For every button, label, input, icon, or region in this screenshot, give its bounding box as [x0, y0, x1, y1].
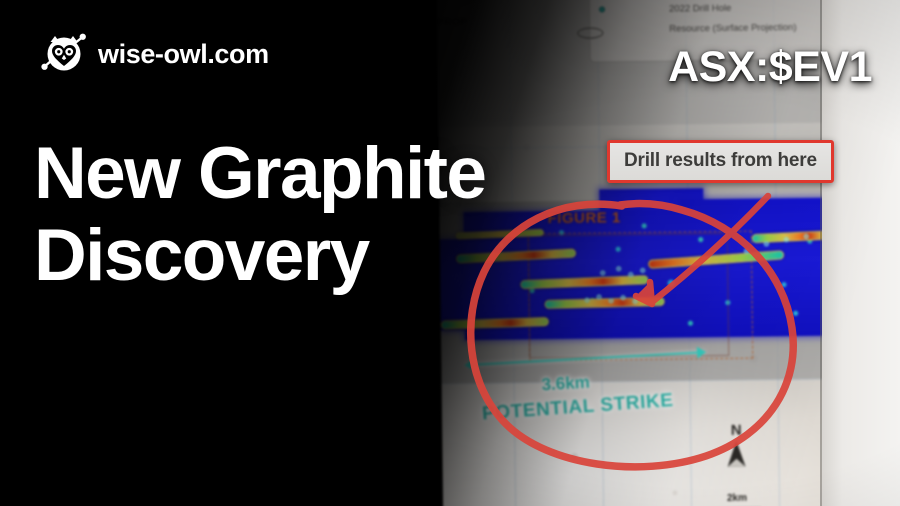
- legend-title-fragment: PROP: [437, 17, 467, 28]
- drill-hole-marker: [640, 268, 645, 273]
- ellipse-outline-icon: [577, 27, 603, 38]
- legend-item-drill-hole: 2022 Drill Hole: [669, 3, 731, 15]
- page-title: New Graphite Discovery: [34, 133, 485, 298]
- drill-hole-marker: [804, 234, 809, 239]
- drill-hole-marker: [585, 297, 590, 302]
- headline-line-1: New Graphite: [34, 133, 485, 214]
- scale-bar-label: 2km: [715, 493, 759, 505]
- brand-logo[interactable]: wise-owl.com: [40, 30, 269, 78]
- brand-name: wise-owl.com: [98, 39, 269, 70]
- drill-hole-marker: [621, 295, 626, 300]
- north-letter: N: [714, 422, 758, 438]
- owl-icon: [40, 30, 88, 78]
- stock-ticker: ASX:$EV1: [668, 43, 872, 92]
- drill-hole-marker: [633, 299, 638, 304]
- drill-hole-marker: [616, 266, 621, 271]
- legend-item-resource: Resource (Surface Projection): [669, 23, 796, 36]
- callout-label: Drill results from here: [624, 150, 817, 172]
- figure-label: FIGURE 1: [547, 209, 620, 227]
- thumbnail-canvas: FIGURE 1 3.6km POTENTIAL STRIKE PROP 202…: [0, 0, 900, 506]
- north-arrow-icon: N: [714, 422, 759, 467]
- headline-line-2: Discovery: [34, 215, 485, 297]
- drill-hole-marker: [596, 294, 601, 299]
- callout-box[interactable]: Drill results from here: [607, 140, 834, 183]
- drill-hole-marker: [609, 298, 614, 303]
- strike-distance-label: 3.6km: [541, 373, 590, 396]
